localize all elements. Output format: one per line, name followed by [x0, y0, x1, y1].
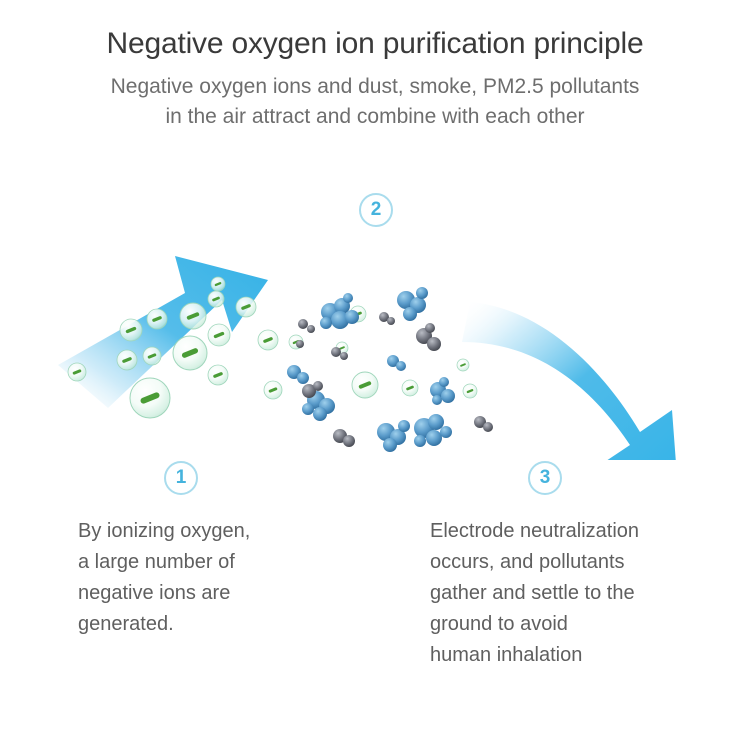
infographic-page: Negative oxygen ion purification princip…	[0, 0, 750, 750]
negative-ion	[211, 277, 225, 291]
negative-ion	[402, 380, 418, 396]
pollutant-cluster	[416, 323, 441, 351]
negative-ion	[208, 291, 224, 307]
step-badge-2[interactable]: 2	[359, 193, 393, 227]
pollutant-cluster	[287, 365, 309, 384]
caption-left-line-1: By ionizing oxygen,	[78, 516, 378, 547]
negative-ion	[173, 336, 207, 370]
caption-left-line-2: a large number of	[78, 547, 378, 578]
negative-ion	[463, 384, 477, 398]
caption-left-line-3: negative ions are	[78, 578, 378, 609]
negative-ion	[68, 363, 86, 381]
caption-right-line-2: occurs, and pollutants	[430, 547, 730, 578]
negative-ion	[208, 324, 230, 346]
pollutant-cluster	[474, 416, 493, 432]
negative-ion	[143, 347, 161, 365]
step-badge-1[interactable]: 1	[164, 461, 198, 495]
page-title: Negative oxygen ion purification princip…	[0, 24, 750, 64]
pollutant-cluster	[298, 319, 315, 333]
caption-step-3: Electrode neutralization occurs, and pol…	[430, 516, 730, 671]
negative-ion	[180, 303, 206, 329]
pollutant-cluster	[379, 312, 395, 325]
pollutant-cluster	[377, 420, 410, 452]
step-badge-3[interactable]: 3	[528, 461, 562, 495]
negative-ion	[208, 365, 228, 385]
caption-step-1: By ionizing oxygen, a large number of ne…	[78, 516, 378, 640]
pollutant-cluster	[432, 395, 442, 405]
pollutant-cluster	[320, 293, 359, 329]
pollutant-cluster	[333, 429, 355, 447]
caption-right-line-1: Electrode neutralization	[430, 516, 730, 547]
caption-right-line-3: gather and settle to the	[430, 578, 730, 609]
pollutant-cluster	[414, 414, 452, 447]
pollutant-cluster	[397, 287, 428, 321]
right-downward-arrow	[462, 302, 678, 460]
header: Negative oxygen ion purification princip…	[0, 0, 750, 132]
pollutant-cluster	[387, 355, 406, 371]
negative-ion	[258, 330, 278, 350]
caption-right-line-4: ground to avoid	[430, 609, 730, 640]
subtitle-line-2: in the air attract and combine with each…	[35, 102, 715, 132]
pollutant-cluster	[296, 340, 304, 348]
page-subtitle: Negative oxygen ions and dust, smoke, PM…	[35, 72, 715, 132]
negative-ion	[264, 381, 282, 399]
negative-ion	[352, 372, 378, 398]
caption-left-line-4: generated.	[78, 609, 378, 640]
negative-ion	[236, 297, 256, 317]
negative-ion	[457, 359, 469, 371]
subtitle-line-1: Negative oxygen ions and dust, smoke, PM…	[35, 72, 715, 102]
negative-ion	[130, 378, 170, 418]
negative-ion	[120, 319, 142, 341]
negative-ion	[117, 350, 137, 370]
caption-right-line-5: human inhalation	[430, 640, 730, 671]
negative-ion	[147, 309, 167, 329]
